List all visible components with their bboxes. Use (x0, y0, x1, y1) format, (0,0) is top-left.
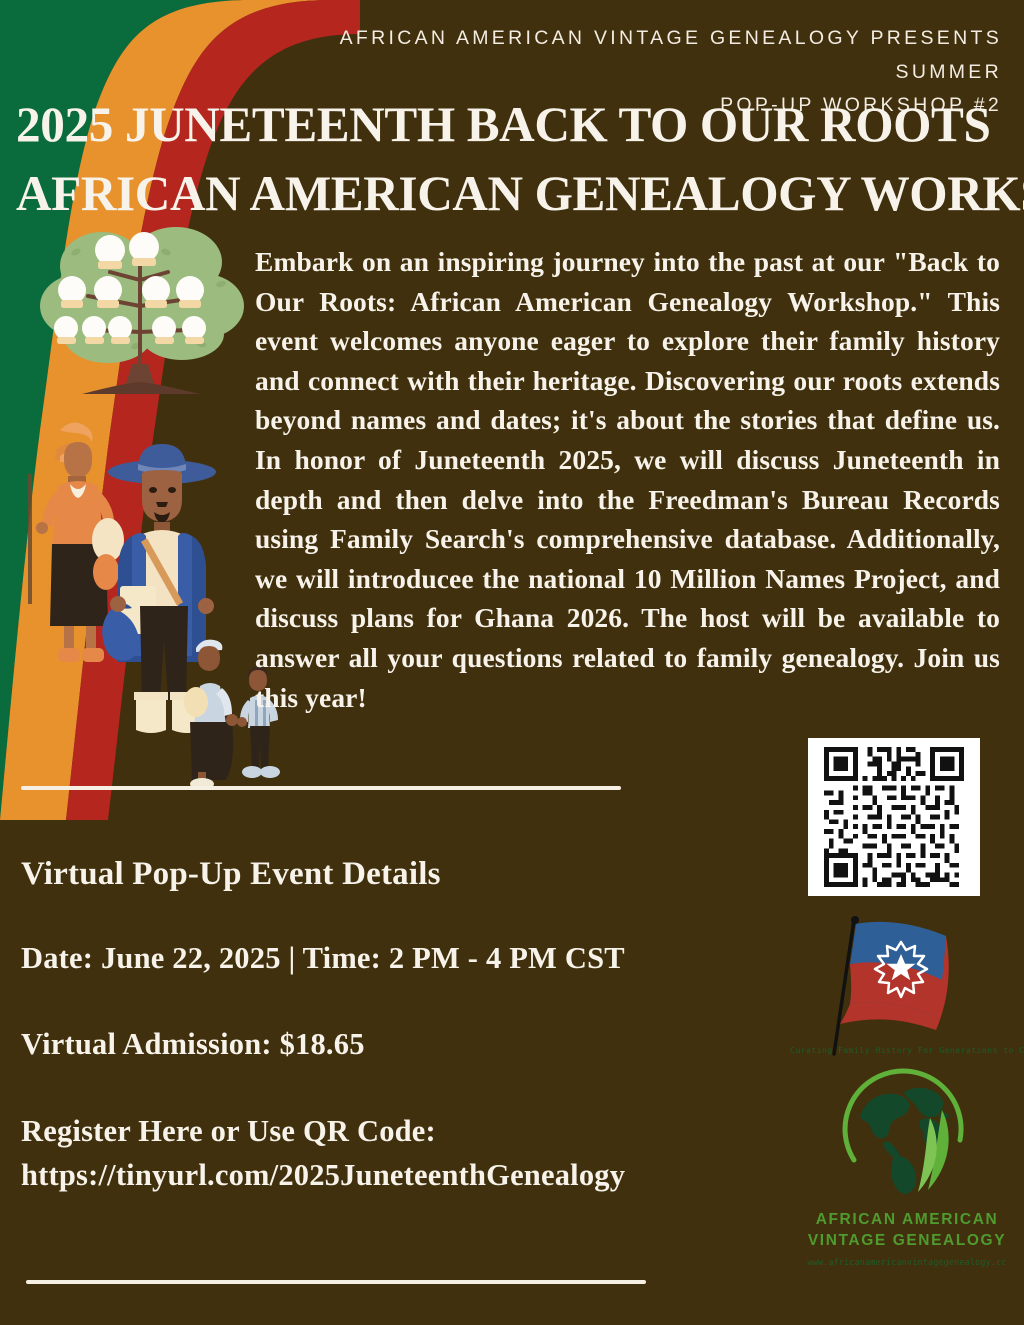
detail-admission: Virtual Admission: $18.65 (21, 1025, 701, 1063)
detail-register-label: Register Here or Use QR Code: (21, 1112, 701, 1150)
page-title: 2025 JUNETEENTH BACK TO OUR ROOTS AFRICA… (16, 96, 1012, 222)
registration-url-link[interactable]: https://tinyurl.com/2025JuneteenthGeneal… (21, 1156, 701, 1194)
juneteenth-flag-icon (826, 912, 986, 1062)
family-tree-illustration (36, 214, 251, 394)
logo-name-line-1: AFRICAN AMERICAN (790, 1210, 1024, 1231)
kicker-line-1: AFRICAN AMERICAN VINTAGE GENEALOGY PRESE… (242, 22, 1002, 89)
detail-date-time: Date: June 22, 2025 | Time: 2 PM - 4 PM … (21, 939, 701, 977)
flyer-page: AFRICAN AMERICAN VINTAGE GENEALOGY PRESE… (0, 0, 1024, 1325)
logo-name-line-2: VINTAGE GENEALOGY (790, 1231, 1024, 1252)
logo-website-url[interactable]: www.africanamericanvintagegenealogy.cc (790, 1257, 1024, 1267)
logo-tagline: Curating Family History For Generations … (790, 1046, 1024, 1054)
details-heading: Virtual Pop-Up Event Details (21, 856, 701, 892)
title-line-2: AFRICAN AMERICAN GENEALOGY WORKSHOP (16, 165, 997, 222)
event-details-section: Virtual Pop-Up Event Details Date: June … (21, 856, 701, 1194)
qr-code-icon[interactable] (808, 738, 980, 896)
globe-leaf-logo-icon (832, 1058, 982, 1208)
figure-woman-with-baby (184, 640, 238, 790)
divider-lower (26, 1280, 646, 1284)
body-paragraph: Embark on an inspiring journey into the … (255, 242, 1000, 717)
divider-upper (21, 786, 621, 790)
title-line-1: 2025 JUNETEENTH BACK TO OUR ROOTS (16, 96, 997, 153)
organization-logo: Curating Family History For Generations … (790, 1046, 1024, 1296)
